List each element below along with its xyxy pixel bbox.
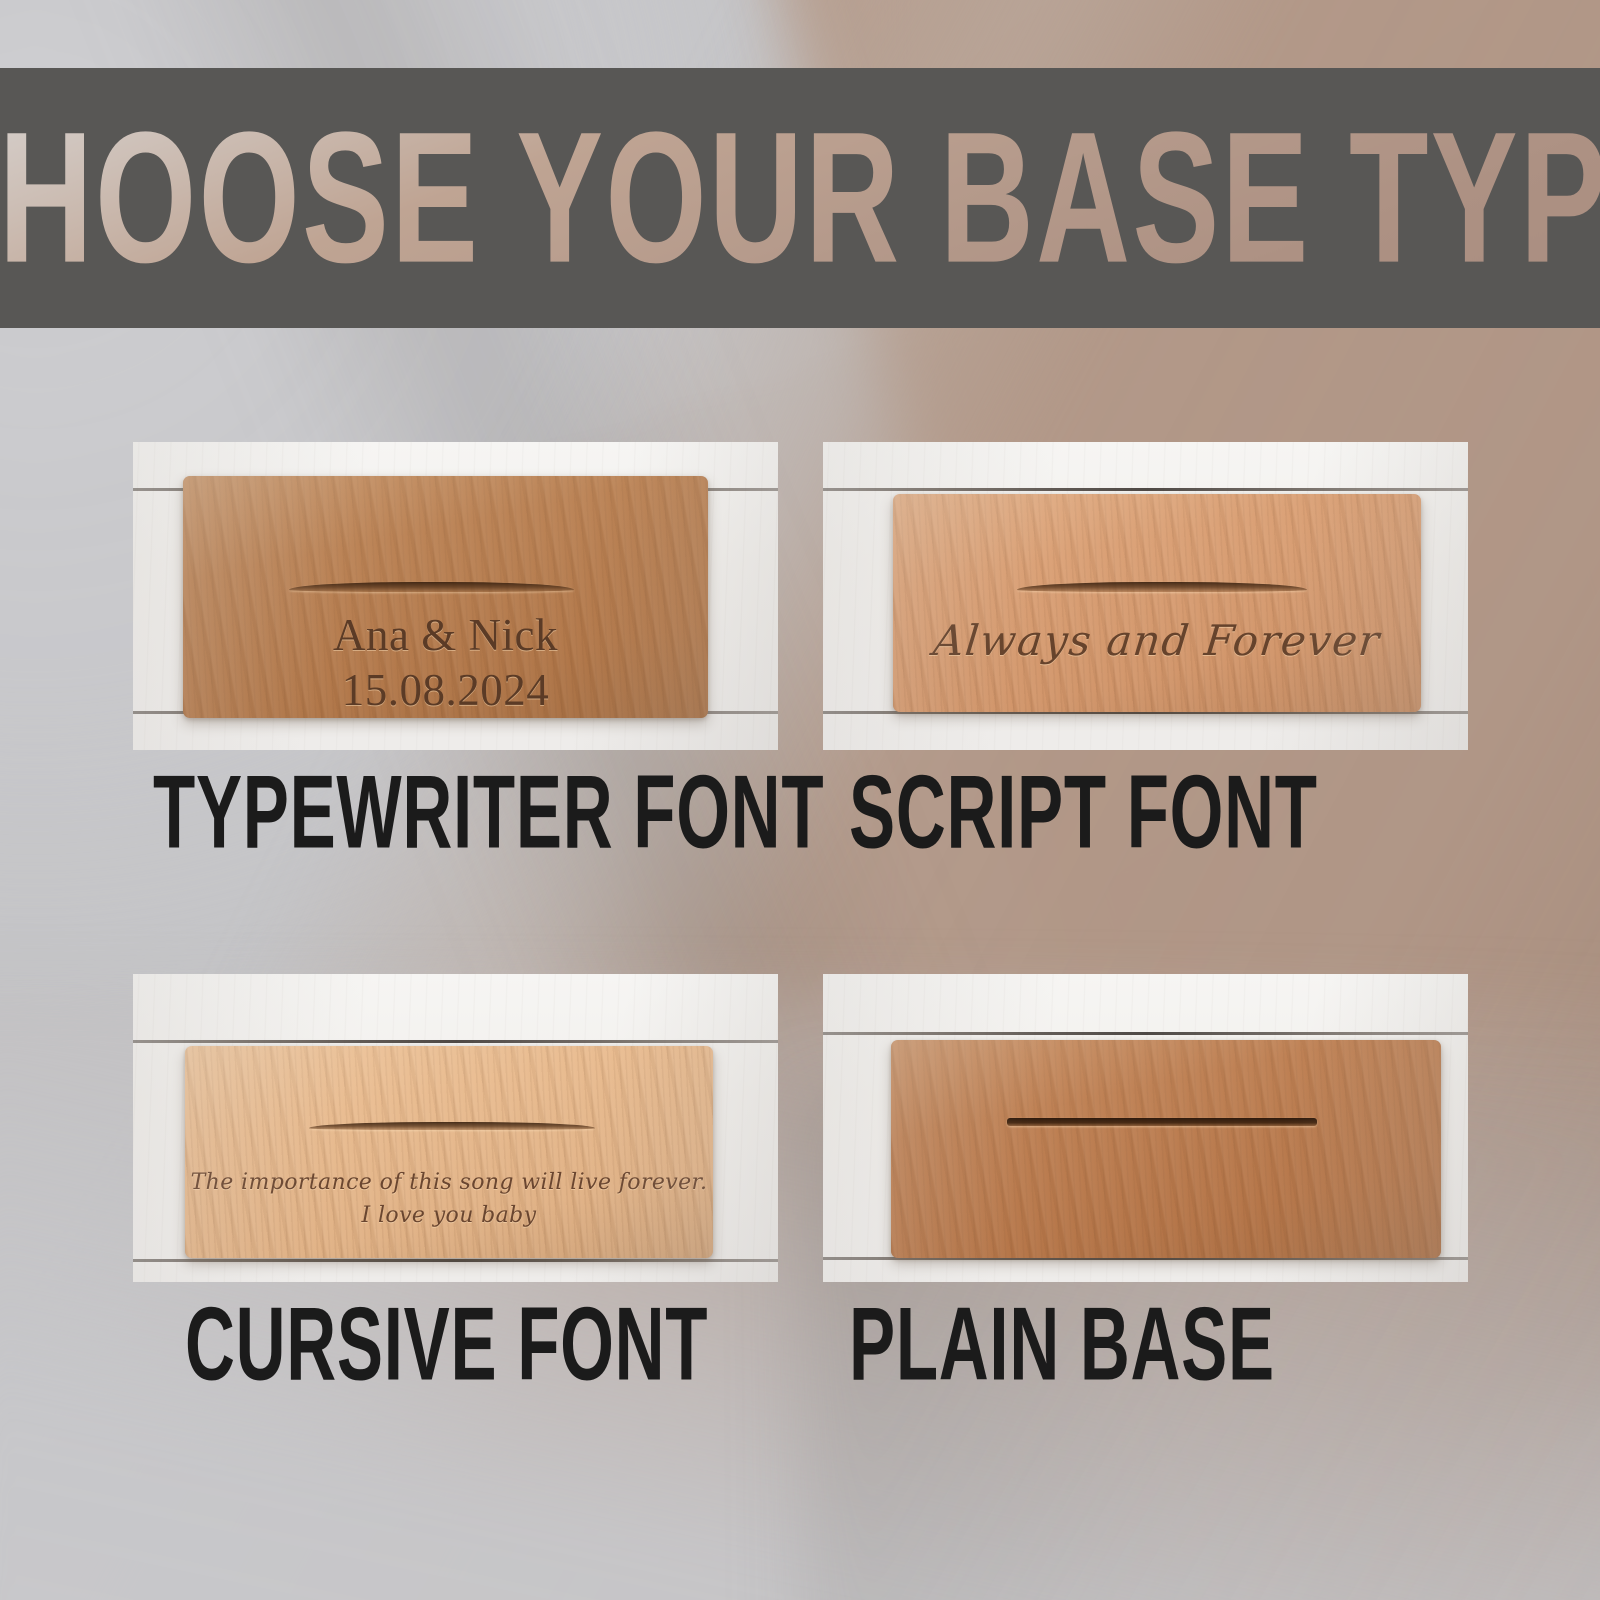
product-photo-typewriter: Ana & Nick 15.08.2024 bbox=[133, 442, 778, 750]
option-caption-script: SCRIPT FONT bbox=[849, 760, 1295, 866]
plank-shadow bbox=[823, 974, 1468, 1282]
option-card-plain[interactable]: PLAIN BASE bbox=[823, 974, 1468, 1394]
product-option-graphic: CHOOSE YOUR BASE TYPE Ana & Nick 15.08.2… bbox=[0, 0, 1600, 1600]
plank-shadow bbox=[133, 974, 778, 1282]
option-caption-cursive: CURSIVE FONT bbox=[185, 1292, 612, 1398]
option-caption-plain: PLAIN BASE bbox=[849, 1292, 1295, 1398]
product-photo-plain bbox=[823, 974, 1468, 1282]
option-card-cursive[interactable]: The importance of this song will live fo… bbox=[133, 974, 778, 1394]
option-caption-typewriter: TYPEWRITER FONT bbox=[153, 760, 603, 866]
base-type-grid: Ana & Nick 15.08.2024 TYPEWRITER FONT bbox=[133, 442, 1468, 1316]
plank-shadow bbox=[133, 442, 778, 750]
option-card-script[interactable]: Always and Forever SCRIPT FONT bbox=[823, 442, 1468, 862]
product-photo-cursive: The importance of this song will live fo… bbox=[133, 974, 778, 1282]
option-card-typewriter[interactable]: Ana & Nick 15.08.2024 TYPEWRITER FONT bbox=[133, 442, 778, 862]
product-photo-script: Always and Forever bbox=[823, 442, 1468, 750]
plank-shadow bbox=[823, 442, 1468, 750]
header-banner: CHOOSE YOUR BASE TYPE bbox=[0, 68, 1600, 328]
page-title: CHOOSE YOUR BASE TYPE bbox=[0, 105, 1600, 292]
